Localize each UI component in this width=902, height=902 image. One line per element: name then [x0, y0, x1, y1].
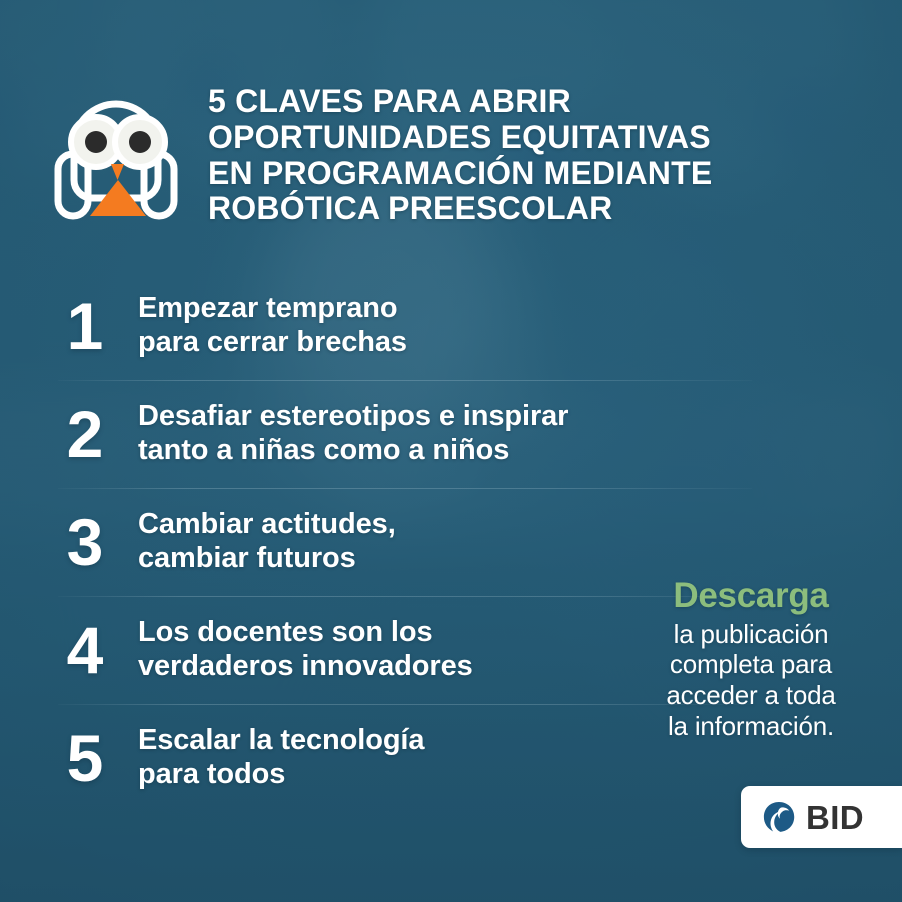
- callout-line: acceder a toda: [620, 680, 882, 711]
- title-line: OPORTUNIDADES EQUITATIVAS: [208, 120, 712, 156]
- list-item-text: Desafiar estereotipos e inspirar tanto a…: [138, 400, 568, 467]
- poster-header: 5 CLAVES PARA ABRIR OPORTUNIDADES EQUITA…: [52, 84, 712, 228]
- bid-swirl-icon: [760, 799, 797, 836]
- list-item-line: Los docentes son los: [138, 616, 473, 650]
- list-item-number: 3: [52, 509, 116, 575]
- title-line: ROBÓTICA PREESCOLAR: [208, 191, 712, 227]
- callout-line: la publicación: [620, 619, 882, 650]
- owl-robot-icon: [52, 88, 180, 228]
- list-item-line: para cerrar brechas: [138, 326, 407, 360]
- page-title: 5 CLAVES PARA ABRIR OPORTUNIDADES EQUITA…: [208, 84, 712, 227]
- callout-line: completa para: [620, 649, 882, 680]
- bid-wordmark: BID: [806, 801, 864, 834]
- infographic-poster: 5 CLAVES PARA ABRIR OPORTUNIDADES EQUITA…: [0, 0, 902, 902]
- list-item-number: 5: [52, 725, 116, 791]
- list-item: 2 Desafiar estereotipos e inspirar tanto…: [52, 380, 732, 488]
- list-item-line: tanto a niñas como a niños: [138, 434, 568, 468]
- list-item-line: Escalar la tecnología: [138, 724, 424, 758]
- list-item-line: Cambiar actitudes,: [138, 508, 396, 542]
- bid-logo: BID: [741, 786, 902, 848]
- list-item-line: para todos: [138, 758, 424, 792]
- list-item-text: Los docentes son los verdaderos innovado…: [138, 616, 473, 683]
- list-item-line: Empezar temprano: [138, 292, 407, 326]
- title-line: 5 CLAVES PARA ABRIR: [208, 84, 712, 120]
- list-item-line: verdaderos innovadores: [138, 650, 473, 684]
- list-item: 1 Empezar temprano para cerrar brechas: [52, 272, 732, 380]
- callout-headline: Descarga: [620, 578, 882, 615]
- callout-line: la información.: [620, 711, 882, 742]
- title-line: EN PROGRAMACIÓN MEDIANTE: [208, 156, 712, 192]
- list-item-line: Desafiar estereotipos e inspirar: [138, 400, 568, 434]
- list-item-text: Empezar temprano para cerrar brechas: [138, 292, 407, 359]
- list-item-number: 4: [52, 617, 116, 683]
- callout-body: la publicación completa para acceder a t…: [620, 619, 882, 742]
- list-item-number: 1: [52, 293, 116, 359]
- download-callout: Descarga la publicación completa para ac…: [620, 578, 882, 741]
- list-item-line: cambiar futuros: [138, 542, 396, 576]
- list-item-text: Escalar la tecnología para todos: [138, 724, 424, 791]
- list-item-text: Cambiar actitudes, cambiar futuros: [138, 508, 396, 575]
- list-item-number: 2: [52, 401, 116, 467]
